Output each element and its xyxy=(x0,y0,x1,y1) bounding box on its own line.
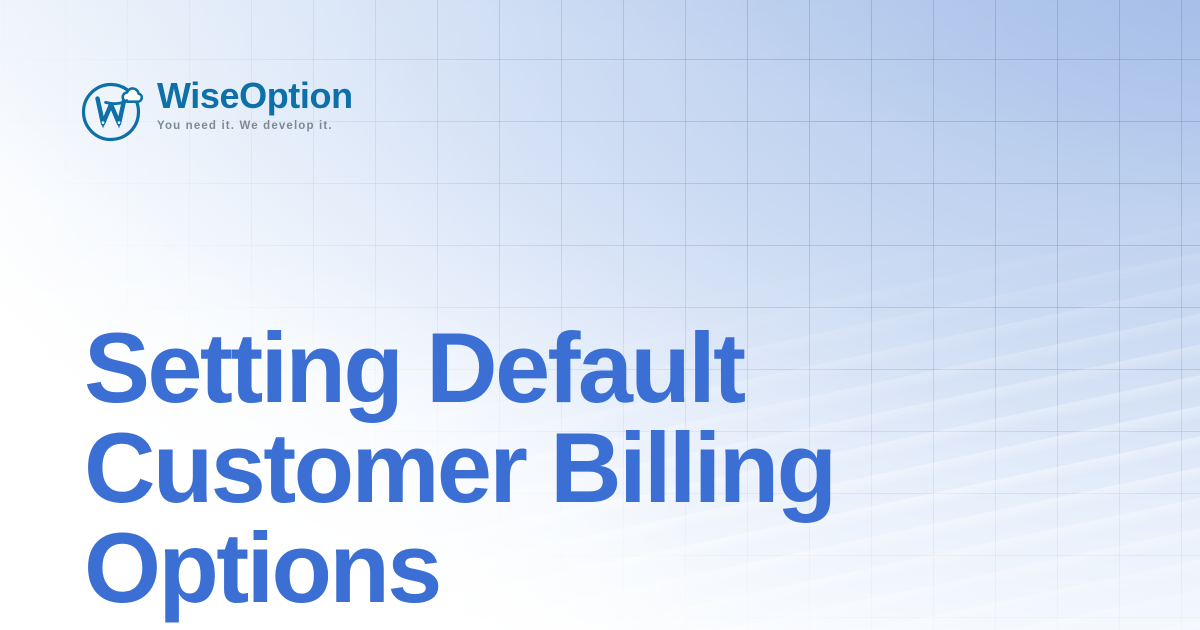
logo-wordmark: WiseOption xyxy=(157,78,353,114)
headline-line-2: Customer Billing xyxy=(84,418,984,518)
logo-text-block: WiseOption You need it. We develop it. xyxy=(157,72,353,132)
headline-line-1: Setting Default xyxy=(84,318,984,418)
page-title: Setting Default Customer Billing Options xyxy=(84,318,984,618)
logo-lockup[interactable]: WiseOption You need it. We develop it. xyxy=(78,72,353,145)
headline-line-3: Options xyxy=(84,518,984,618)
logo-tagline: You need it. We develop it. xyxy=(157,120,333,132)
wiseoption-logo-icon xyxy=(78,73,150,145)
banner-card: WiseOption You need it. We develop it. S… xyxy=(0,0,1200,630)
